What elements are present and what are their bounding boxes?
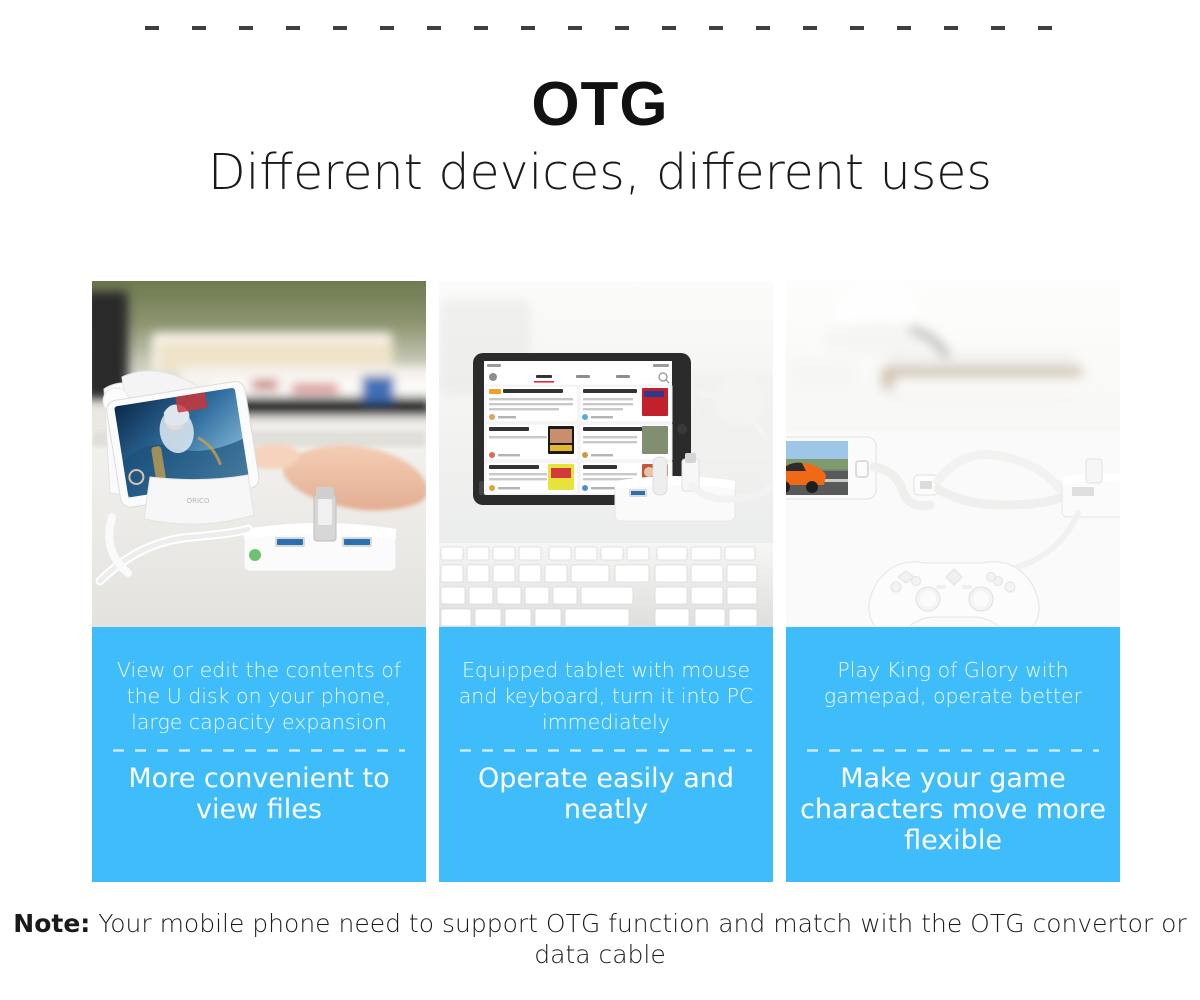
feature-card-list: ORICO [92, 281, 1120, 882]
feature-photo-usb-disk: ORICO [92, 281, 426, 627]
panel-dashed-divider [807, 749, 1099, 752]
panel-dashed-divider [460, 749, 752, 752]
footer-note-text: Your mobile phone need to support OTG fu… [90, 909, 1186, 969]
feature-headline: Operate easily and neatly [439, 763, 773, 825]
feature-panel: Play King of Glory with gamepad, operate… [786, 627, 1120, 882]
feature-card: Equipped tablet with mouse and keyboard,… [439, 281, 773, 882]
top-dashed-divider [145, 26, 1085, 30]
feature-description: Equipped tablet with mouse and keyboard,… [439, 657, 773, 735]
feature-headline: More convenient to view files [92, 763, 426, 825]
feature-description: View or edit the contents of the U disk … [92, 657, 426, 735]
page-subtitle: Different devices, different uses [0, 145, 1200, 201]
feature-panel: View or edit the contents of the U disk … [92, 627, 426, 882]
page-header: OTG Different devices, different uses [0, 72, 1200, 201]
footer-note: Note: Your mobile phone need to support … [0, 908, 1200, 970]
feature-photo-gamepad [786, 281, 1120, 627]
panel-dashed-divider [113, 749, 405, 752]
footer-note-label: Note: [13, 909, 90, 938]
otg-feature-page: OTG Different devices, different uses [0, 0, 1200, 1000]
feature-description: Play King of Glory with gamepad, operate… [786, 657, 1120, 709]
feature-panel: Equipped tablet with mouse and keyboard,… [439, 627, 773, 882]
feature-card: Play King of Glory with gamepad, operate… [786, 281, 1120, 882]
page-title: OTG [0, 72, 1200, 137]
feature-headline: Make your game characters move more flex… [786, 763, 1120, 856]
feature-card: ORICO [92, 281, 426, 882]
feature-photo-tablet-keyboard [439, 281, 773, 627]
svg-text:ORICO: ORICO [187, 497, 210, 505]
